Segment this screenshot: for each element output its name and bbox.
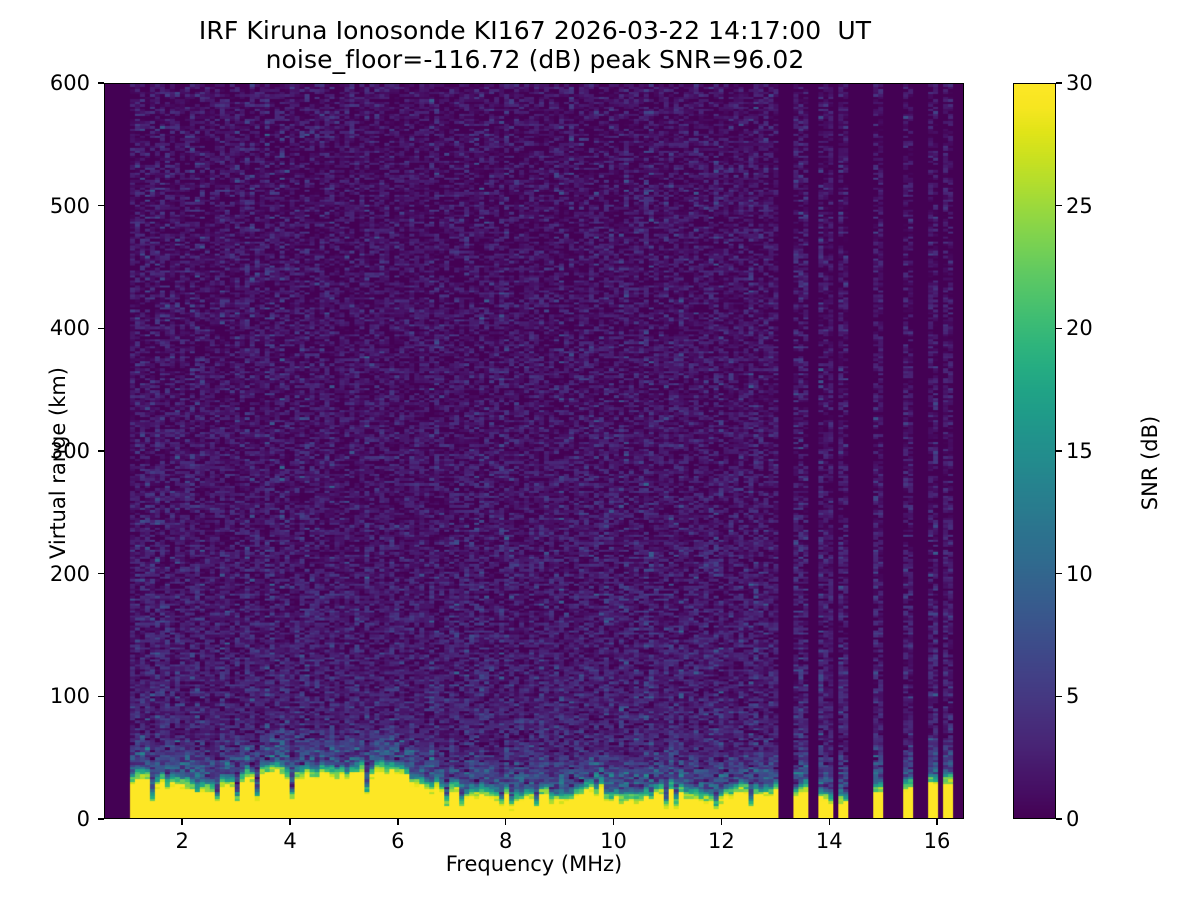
x-tick-label: 14 [816,829,843,853]
x-tick-mark [613,819,614,825]
colorbar-tick-label: 15 [1066,439,1093,463]
y-axis-label: Virtual range (km) [46,313,70,613]
colorbar-tick-mark [1056,205,1062,206]
y-tick-label: 500 [0,194,90,218]
x-tick-mark [829,819,830,825]
x-tick-mark [181,819,182,825]
x-tick-label: 2 [175,829,188,853]
x-tick-mark [505,819,506,825]
y-tick-label: 300 [0,439,90,463]
x-tick-mark [721,819,722,825]
y-tick-label: 600 [0,71,90,95]
y-tick-label: 100 [0,684,90,708]
colorbar-tick-mark [1056,696,1062,697]
x-tick-label: 6 [391,829,404,853]
colorbar-tick-label: 20 [1066,316,1093,340]
colorbar-tick-mark [1056,450,1062,451]
colorbar [1013,83,1056,819]
x-tick-label: 16 [924,829,951,853]
x-tick-label: 4 [283,829,296,853]
x-axis-label: Frequency (MHz) [104,852,964,876]
x-tick-mark [289,819,290,825]
colorbar-tick-mark [1056,328,1062,329]
y-tick-label: 400 [0,316,90,340]
colorbar-label: SNR (dB) [1138,313,1162,613]
x-tick-label: 10 [600,829,627,853]
colorbar-tick-mark [1056,818,1062,819]
colorbar-tick-label: 30 [1066,71,1093,95]
ionogram-heatmap [105,84,963,818]
colorbar-tick-label: 0 [1066,807,1079,831]
y-tick-label: 200 [0,562,90,586]
x-tick-mark [936,819,937,825]
title-line-1: IRF Kiruna Ionosonde KI167 2026-03-22 14… [0,16,1070,45]
y-tick-label: 0 [0,807,90,831]
colorbar-tick-label: 10 [1066,562,1093,586]
colorbar-tick-mark [1056,82,1062,83]
ionogram-axes [104,83,964,819]
x-tick-label: 8 [499,829,512,853]
colorbar-tick-label: 5 [1066,684,1079,708]
ionogram-figure: IRF Kiruna Ionosonde KI167 2026-03-22 14… [0,0,1200,900]
x-tick-mark [397,819,398,825]
colorbar-tick-label: 25 [1066,194,1093,218]
colorbar-tick-mark [1056,573,1062,574]
title-line-2: noise_floor=-116.72 (dB) peak SNR=96.02 [0,45,1070,74]
figure-title: IRF Kiruna Ionosonde KI167 2026-03-22 14… [0,16,1070,75]
x-tick-label: 12 [708,829,735,853]
colorbar-gradient [1014,84,1055,818]
